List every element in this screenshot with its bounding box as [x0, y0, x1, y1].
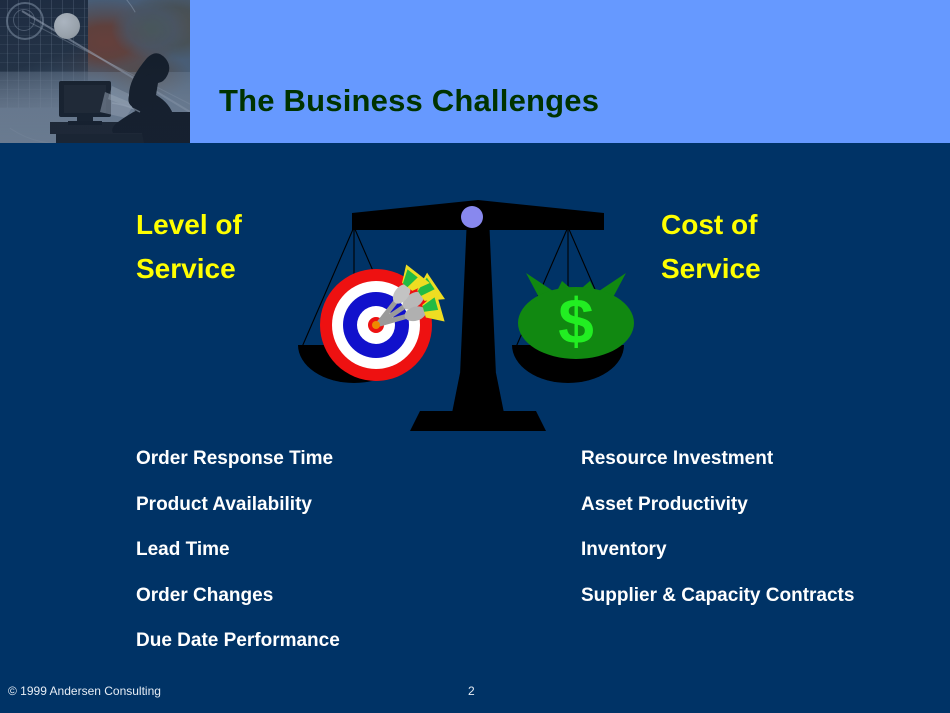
scale-column	[460, 217, 496, 375]
scale-column-foot	[452, 373, 504, 413]
column-heading-level-of-service: Level of Service	[136, 203, 242, 291]
money-bag-icon: $	[518, 273, 634, 359]
dollar-sign-icon: $	[558, 285, 594, 357]
bullet-list-cost-of-service: Resource Investment Asset Productivity I…	[581, 449, 854, 631]
page-title: The Business Challenges	[219, 85, 599, 116]
header-decorative-image	[0, 0, 190, 143]
footer-page-number: 2	[468, 684, 475, 698]
balance-scales-graphic: $	[288, 195, 668, 460]
list-item: Due Date Performance	[136, 631, 340, 650]
bullet-list-level-of-service: Order Response Time Product Availability…	[136, 449, 340, 677]
list-item: Asset Productivity	[581, 495, 854, 514]
list-item: Resource Investment	[581, 449, 854, 468]
slide: The Business Challenges	[0, 0, 950, 713]
list-item: Inventory	[581, 540, 854, 559]
list-item: Supplier & Capacity Contracts	[581, 586, 854, 605]
list-item: Order Response Time	[136, 449, 340, 468]
photo-color-wash	[0, 0, 190, 143]
footer-copyright: © 1999 Andersen Consulting	[8, 684, 161, 698]
list-item: Order Changes	[136, 586, 340, 605]
column-heading-cost-of-service: Cost of Service	[661, 203, 761, 291]
scale-pivot-icon	[461, 206, 483, 228]
list-item: Product Availability	[136, 495, 340, 514]
list-item: Lead Time	[136, 540, 340, 559]
scale-base	[410, 411, 546, 431]
